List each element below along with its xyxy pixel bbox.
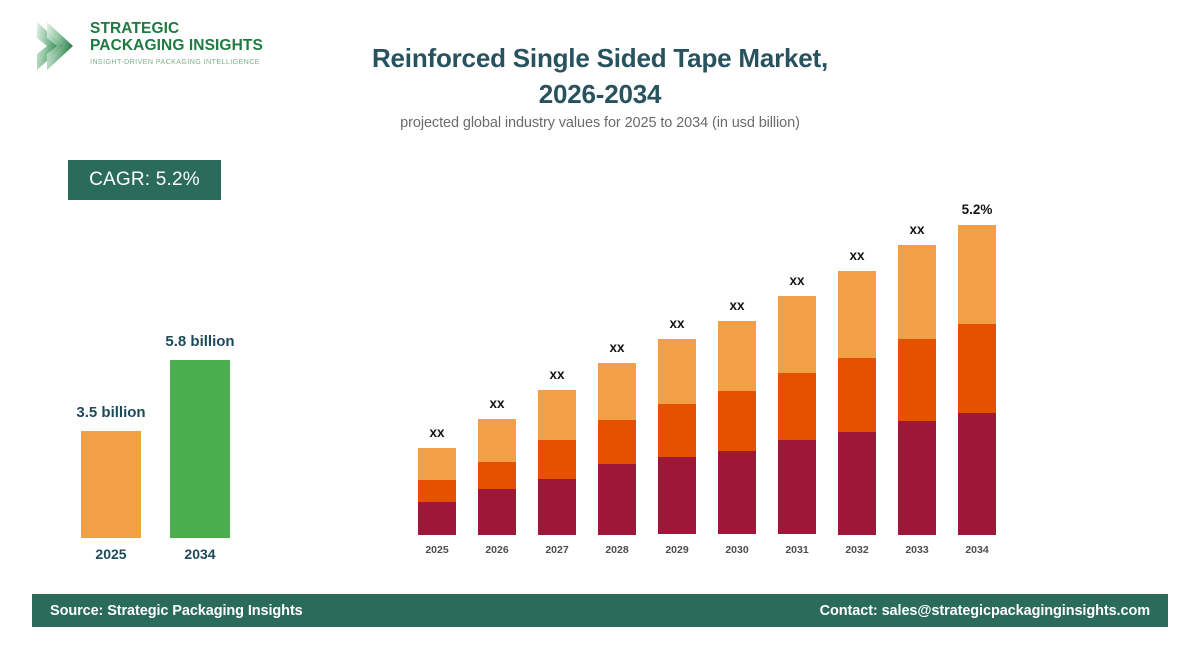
summary-bar-column — [81, 431, 141, 538]
stacked-bar-column: xx2027 — [538, 220, 576, 560]
page-title-line-1: Reinforced Single Sided Tape Market, — [300, 40, 900, 76]
chevron-arrow-icon — [33, 20, 81, 72]
stacked-bar-2031[interactable] — [778, 296, 816, 535]
summary-bar-2025[interactable] — [81, 431, 141, 538]
page-title-line-2: 2026-2034 — [300, 76, 900, 112]
stacked-bar-segment-segment-top[interactable] — [958, 225, 996, 324]
stacked-bar-segment-segment-top[interactable] — [898, 245, 936, 339]
brand-logo: STRATEGIC PACKAGING INSIGHTS INSIGHT-DRI… — [28, 14, 258, 74]
summary-bar-year-label: 2034 — [170, 546, 230, 562]
stacked-bar-column: xx2026 — [478, 220, 516, 560]
stacked-bar-segment-segment-middle[interactable] — [598, 420, 636, 464]
stacked-bar-segment-segment-middle[interactable] — [418, 480, 456, 503]
page-title: Reinforced Single Sided Tape Market, 202… — [300, 40, 900, 112]
brand-name-line1: STRATEGIC — [90, 20, 258, 37]
page-subtitle: projected global industry values for 202… — [300, 115, 900, 131]
stacked-bar-segment-segment-top[interactable] — [418, 448, 456, 480]
stacked-bar-segment-segment-bottom[interactable] — [718, 451, 756, 534]
stacked-bar-column: xx2029 — [658, 220, 696, 560]
stacked-bar-year-label: 2027 — [538, 544, 576, 556]
stacked-bar-column: xx2032 — [838, 220, 876, 560]
stacked-bar-segment-segment-middle[interactable] — [658, 404, 696, 457]
stacked-bar-segment-segment-bottom[interactable] — [778, 440, 816, 534]
stacked-bar-year-label: 2031 — [778, 544, 816, 556]
stacked-bar-segment-segment-middle[interactable] — [538, 440, 576, 479]
stacked-bar-top-label: xx — [702, 298, 772, 313]
stacked-bar-2034[interactable] — [958, 225, 996, 535]
stacked-bar-segment-segment-bottom[interactable] — [898, 421, 936, 535]
stacked-bar-2029[interactable] — [658, 339, 696, 535]
brand-name-line2: PACKAGING INSIGHTS — [90, 37, 258, 54]
stacked-bar-segment-segment-top[interactable] — [658, 339, 696, 404]
stacked-bar-segment-segment-bottom[interactable] — [598, 464, 636, 535]
stacked-bar-segment-segment-bottom[interactable] — [658, 457, 696, 534]
stacked-bar-year-label: 2028 — [598, 544, 636, 556]
stacked-bar-2025[interactable] — [418, 448, 456, 535]
stacked-bar-top-label: xx — [762, 273, 832, 288]
stacked-bar-top-label: xx — [522, 367, 592, 382]
stacked-bar-column: xx2030 — [718, 220, 756, 560]
stacked-bar-segment-segment-middle[interactable] — [718, 391, 756, 451]
stacked-bar-top-label: 5.2% — [942, 202, 1012, 217]
stacked-bar-segment-segment-middle[interactable] — [778, 373, 816, 440]
stacked-bar-top-label: xx — [822, 248, 892, 263]
stacked-bar-year-label: 2025 — [418, 544, 456, 556]
stacked-bar-segment-segment-bottom[interactable] — [538, 479, 576, 535]
stacked-bar-column: xx2025 — [418, 220, 456, 560]
stacked-bar-segment-segment-bottom[interactable] — [838, 432, 876, 535]
summary-bar-2034[interactable] — [170, 360, 230, 538]
stacked-bar-segment-segment-top[interactable] — [778, 296, 816, 373]
stacked-bar-2032[interactable] — [838, 271, 876, 535]
stacked-bar-year-label: 2032 — [838, 544, 876, 556]
stacked-bar-column: xx2031 — [778, 220, 816, 560]
stacked-bar-segment-segment-bottom[interactable] — [958, 413, 996, 535]
summary-bar-value-label: 3.5 billion — [41, 404, 181, 421]
stacked-bar-segment-segment-middle[interactable] — [838, 358, 876, 432]
cagr-badge: CAGR: 5.2% — [68, 160, 221, 200]
footer-contact: Contact: sales@strategicpackaginginsight… — [820, 603, 1150, 619]
stacked-bar-year-label: 2029 — [658, 544, 696, 556]
stacked-bar-year-label: 2034 — [958, 544, 996, 556]
stacked-bar-year-label: 2030 — [718, 544, 756, 556]
summary-bar-chart: 3.5 billion20255.8 billion2034 — [55, 300, 285, 570]
stacked-bar-2030[interactable] — [718, 321, 756, 535]
summary-bar-year-label: 2025 — [81, 546, 141, 562]
summary-bar-value-label: 5.8 billion — [130, 333, 270, 350]
stacked-bar-column: 5.2%2034 — [958, 220, 996, 560]
stacked-bar-segment-segment-middle[interactable] — [478, 462, 516, 490]
stacked-bar-top-label: xx — [402, 425, 472, 440]
stacked-bar-segment-segment-top[interactable] — [598, 363, 636, 420]
stacked-bar-year-label: 2033 — [898, 544, 936, 556]
stacked-bar-top-label: xx — [582, 340, 652, 355]
stacked-bar-column: xx2033 — [898, 220, 936, 560]
stacked-bar-year-label: 2026 — [478, 544, 516, 556]
stacked-bar-2027[interactable] — [538, 390, 576, 535]
stacked-bar-segment-segment-middle[interactable] — [898, 339, 936, 421]
stacked-bar-top-label: xx — [882, 222, 952, 237]
stacked-bar-segment-segment-top[interactable] — [538, 390, 576, 440]
cagr-badge-label: CAGR: 5.2% — [89, 169, 200, 191]
chart-title-wrap: Reinforced Single Sided Tape Market, 202… — [300, 40, 900, 112]
stacked-bar-segment-segment-top[interactable] — [838, 271, 876, 358]
brand-tagline: INSIGHT-DRIVEN PACKAGING INTELLIGENCE — [90, 58, 258, 66]
stacked-bar-2028[interactable] — [598, 363, 636, 535]
stacked-bar-top-label: xx — [462, 396, 532, 411]
stacked-bar-segment-segment-bottom[interactable] — [478, 489, 516, 535]
forecast-stacked-bar-chart: xx2025xx2026xx2027xx2028xx2029xx2030xx20… — [405, 195, 1005, 560]
footer-source: Source: Strategic Packaging Insights — [50, 603, 303, 619]
stacked-bar-segment-segment-bottom[interactable] — [418, 502, 456, 535]
stacked-bar-2026[interactable] — [478, 419, 516, 535]
stacked-bar-segment-segment-middle[interactable] — [958, 324, 996, 413]
stacked-bar-top-label: xx — [642, 316, 712, 331]
footer-bar: Source: Strategic Packaging Insights Con… — [32, 594, 1168, 627]
stacked-bar-segment-segment-top[interactable] — [718, 321, 756, 391]
stacked-bar-column: xx2028 — [598, 220, 636, 560]
stacked-bar-segment-segment-top[interactable] — [478, 419, 516, 462]
summary-bar-column — [170, 360, 230, 538]
stacked-bar-2033[interactable] — [898, 245, 936, 535]
